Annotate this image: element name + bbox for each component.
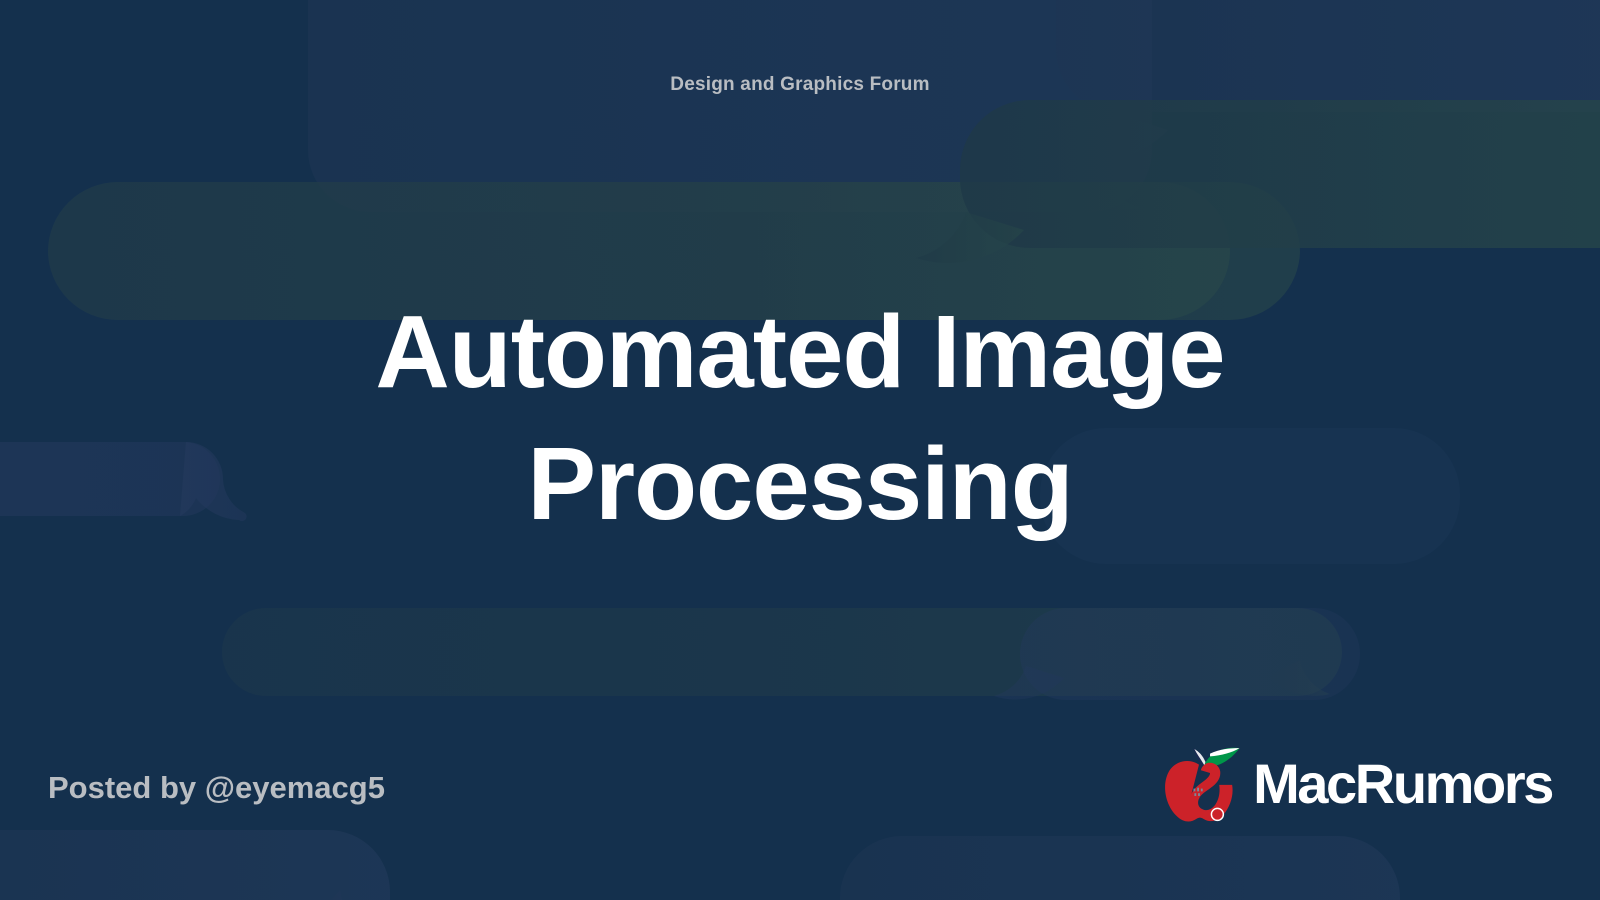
posted-by-label: Posted by @eyemacg5 xyxy=(48,770,385,806)
bubble-top-blue xyxy=(308,0,1152,212)
macrumors-apple-question-mark-icon xyxy=(1153,738,1245,830)
bubble-lowerright-blue xyxy=(994,608,1360,700)
bubble-right-teal xyxy=(916,100,1600,263)
forum-label: Design and Graphics Forum xyxy=(0,74,1600,96)
page-title: Automated Image Processing xyxy=(120,286,1480,550)
bubble-center-teal xyxy=(222,608,1342,696)
bubble-bottomright-blue xyxy=(840,836,1400,900)
macrumors-wordmark: MacRumors xyxy=(1253,756,1552,812)
macrumors-logo: MacRumors xyxy=(1153,738,1552,830)
share-card: Design and Graphics Forum Automated Imag… xyxy=(0,0,1600,900)
bubble-bottomleft-blue xyxy=(0,830,390,900)
title-container: Automated Image Processing xyxy=(120,286,1480,550)
